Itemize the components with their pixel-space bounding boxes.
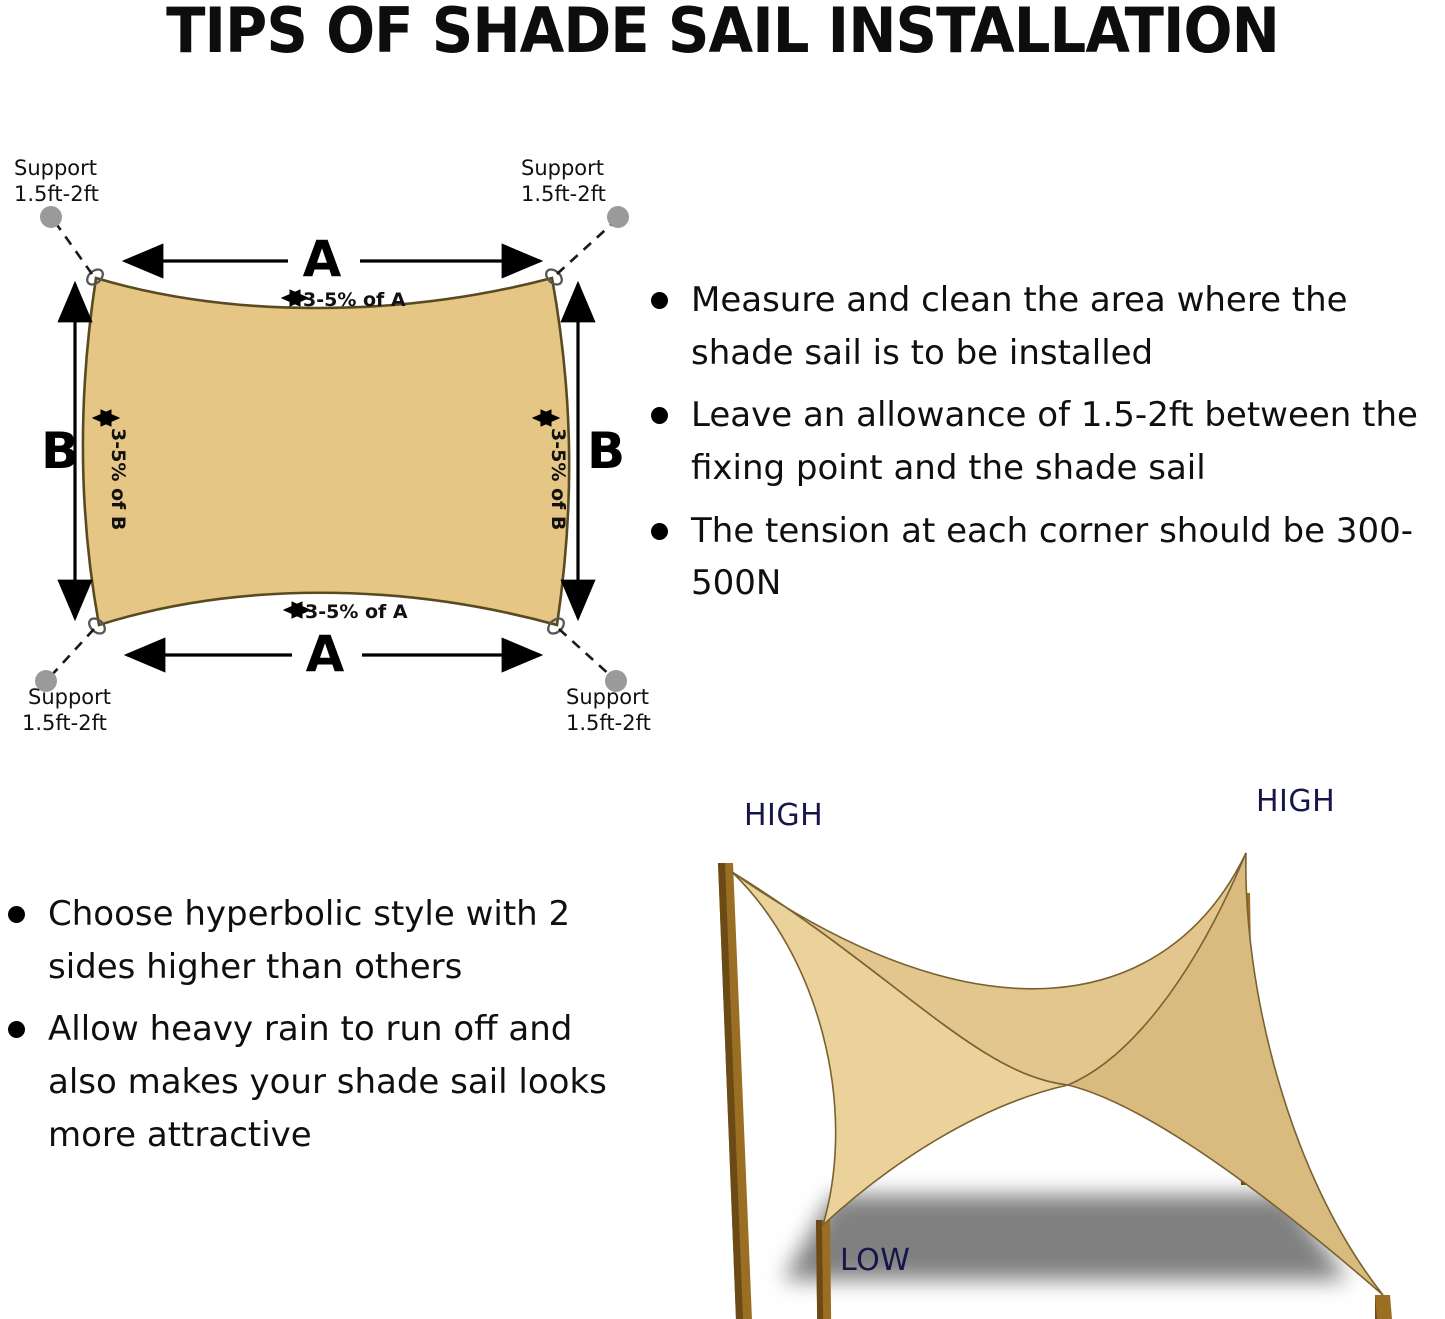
curvature-label-left: 3-5% of B (107, 428, 129, 530)
list-item: Measure and clean the area where the sha… (645, 274, 1445, 379)
support-label-bottom-left: Support 1.5ft-2ft (22, 685, 111, 735)
post-high-left (718, 863, 752, 1319)
curvature-label-right: 3-5% of B (547, 428, 569, 530)
label-low-left: LOW (840, 1243, 910, 1278)
page-title: TIPS OF SHADE SAIL INSTALLATION (51, 0, 1395, 67)
dimension-label-A-bottom: A (306, 625, 345, 683)
support-label-top-left: Support 1.5ft-2ft (14, 156, 99, 206)
list-item: The tension at each corner should be 300… (645, 505, 1445, 610)
support-label-top-right: Support 1.5ft-2ft (521, 156, 606, 206)
support-label-line1: Support (521, 156, 604, 180)
curvature-label-bottom: 3-5% of A (305, 601, 408, 623)
support-label-line2: 1.5ft-2ft (14, 182, 99, 206)
support-label-line1: Support (566, 685, 649, 709)
hyperbolic-sail-diagram: HIGH HIGH LOW LOW (648, 775, 1445, 1319)
list-item: Allow heavy rain to run off and also mak… (2, 1003, 622, 1161)
support-label-line1: Support (28, 685, 111, 709)
dimension-label-A-top: A (303, 230, 342, 288)
support-label-line2: 1.5ft-2ft (566, 711, 651, 735)
tips-list-installation: Measure and clean the area where the sha… (645, 274, 1445, 620)
sail-shape (83, 278, 569, 625)
curvature-label-top: 3-5% of A (303, 289, 406, 311)
post-low-right-lower (1375, 1295, 1392, 1319)
list-item: Choose hyperbolic style with 2 sides hig… (2, 888, 622, 993)
label-high-right: HIGH (1256, 784, 1335, 819)
list-item: Leave an allowance of 1.5-2ft between th… (645, 389, 1445, 494)
support-label-line1: Support (14, 156, 97, 180)
rect-sail-diagram: Support 1.5ft-2ft Support 1.5ft-2ft Supp… (0, 150, 700, 740)
tips-list-hyperbolic: Choose hyperbolic style with 2 sides hig… (2, 888, 622, 1171)
dimension-label-B-left: B (41, 422, 79, 480)
support-label-line2: 1.5ft-2ft (22, 711, 107, 735)
support-label-line2: 1.5ft-2ft (521, 182, 606, 206)
label-high-left: HIGH (744, 798, 823, 833)
dimension-label-B-right: B (587, 422, 625, 480)
post-low-left (816, 1220, 832, 1319)
support-label-bottom-right: Support 1.5ft-2ft (566, 685, 651, 735)
